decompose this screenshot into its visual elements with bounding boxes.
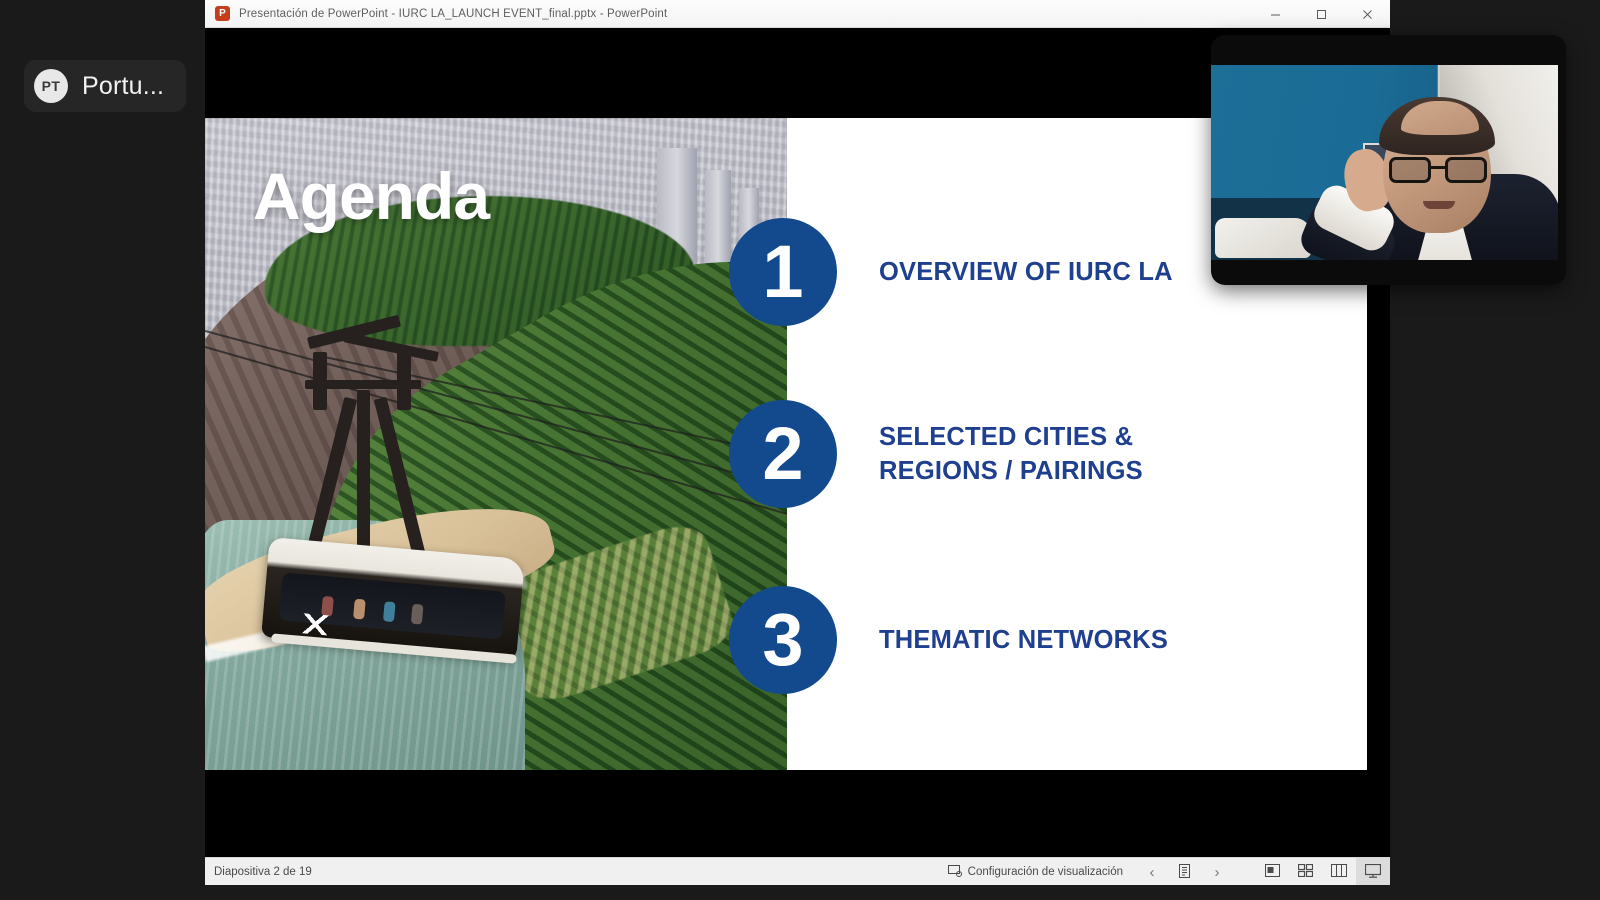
participant-name: Portu... bbox=[82, 72, 164, 101]
slideshow-view-button[interactable] bbox=[1356, 858, 1390, 885]
maximize-button[interactable] bbox=[1298, 0, 1344, 28]
slide-canvas: Agenda 1 OVERVIEW OF IURC LA 2 SELECTED … bbox=[205, 118, 1367, 770]
glasses-icon bbox=[1387, 157, 1489, 183]
display-settings-button[interactable]: Configuración de visualización bbox=[936, 858, 1135, 885]
agenda-number: 1 bbox=[729, 218, 837, 326]
display-settings-label: Configuración de visualización bbox=[968, 866, 1123, 878]
status-bar: Diapositiva 2 de 19 Configuración de vis… bbox=[205, 857, 1390, 885]
window-title: Presentación de PowerPoint - IURC LA_LAU… bbox=[239, 8, 667, 20]
webcam-person-head bbox=[1383, 103, 1491, 233]
agenda-number: 2 bbox=[729, 400, 837, 508]
previous-slide-button[interactable]: ‹ bbox=[1135, 858, 1169, 885]
screen: PT Portu... P Presentación de PowerPoint… bbox=[0, 0, 1600, 900]
minimize-button[interactable] bbox=[1252, 0, 1298, 28]
close-button[interactable] bbox=[1344, 0, 1390, 28]
status-bar-right: Configuración de visualización ‹ bbox=[936, 858, 1390, 885]
speaker-video-thumbnail[interactable] bbox=[1211, 35, 1566, 285]
slide-counter: Diapositiva 2 de 19 bbox=[214, 866, 312, 878]
agenda-label: SELECTED CITIES & REGIONS / PAIRINGS bbox=[879, 420, 1143, 489]
agenda-item: 1 OVERVIEW OF IURC LA bbox=[729, 218, 1173, 326]
avatar: PT bbox=[34, 69, 68, 103]
window-controls bbox=[1252, 0, 1390, 28]
agenda-item: 3 THEMATIC NETWORKS bbox=[729, 586, 1168, 694]
normal-view-button[interactable] bbox=[1256, 858, 1289, 885]
pen-tool-icon bbox=[1178, 864, 1191, 881]
agenda-number: 3 bbox=[729, 586, 837, 694]
pen-tool-button[interactable] bbox=[1169, 858, 1200, 885]
slide-sorter-button[interactable] bbox=[1289, 858, 1322, 885]
title-bar[interactable]: P Presentación de PowerPoint - IURC LA_L… bbox=[205, 0, 1390, 28]
slide-title: Agenda bbox=[253, 163, 489, 229]
participant-pill[interactable]: PT Portu... bbox=[24, 60, 186, 112]
slide-sorter-icon bbox=[1298, 864, 1313, 880]
agenda-label: THEMATIC NETWORKS bbox=[879, 623, 1168, 657]
photo-cable-car bbox=[247, 326, 547, 676]
webcam-person-mouth bbox=[1423, 201, 1455, 209]
powerpoint-icon: P bbox=[215, 6, 230, 21]
agenda-item: 2 SELECTED CITIES & REGIONS / PAIRINGS bbox=[729, 400, 1143, 508]
slideshow-view-icon bbox=[1365, 864, 1381, 881]
reading-view-icon bbox=[1331, 864, 1347, 880]
next-slide-button[interactable]: › bbox=[1200, 858, 1234, 885]
agenda-label: OVERVIEW OF IURC LA bbox=[879, 255, 1173, 289]
display-settings-icon bbox=[948, 865, 962, 880]
webcam-pillow bbox=[1215, 218, 1311, 258]
normal-view-icon bbox=[1265, 864, 1280, 880]
reading-view-button[interactable] bbox=[1322, 858, 1356, 885]
webcam-feed bbox=[1211, 65, 1558, 260]
